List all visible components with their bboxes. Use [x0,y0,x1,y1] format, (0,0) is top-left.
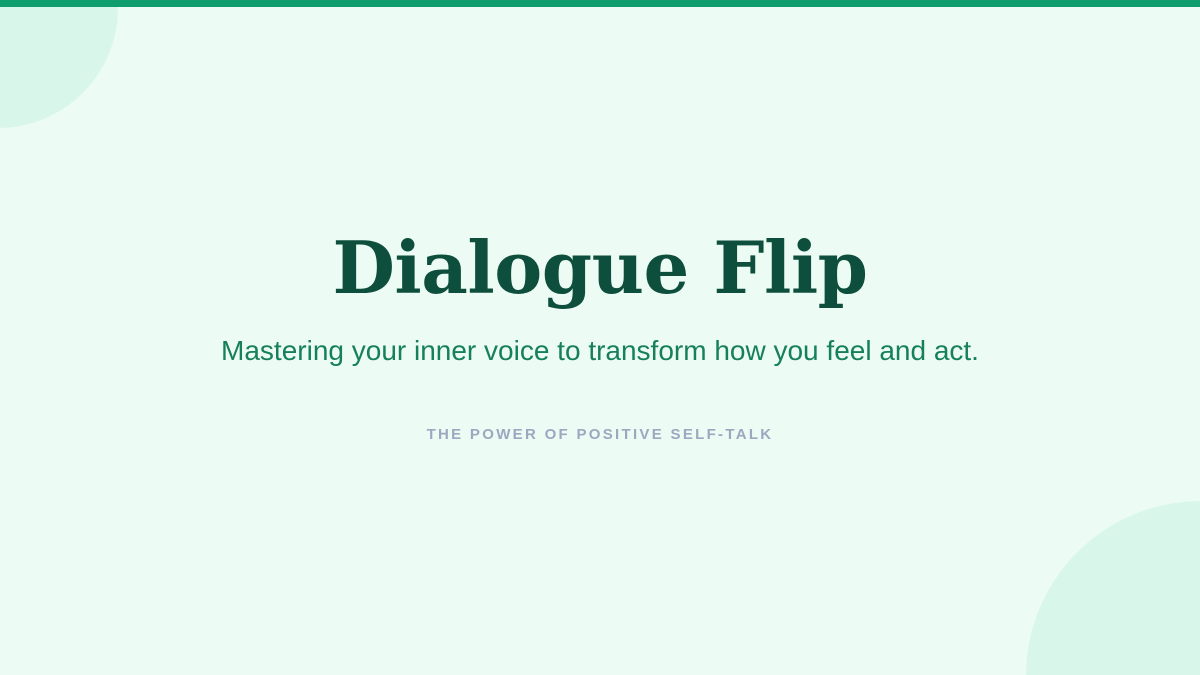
top-accent-bar [0,0,1200,7]
page-title: Dialogue Flip [332,230,867,306]
title-slide: Dialogue Flip Mastering your inner voice… [0,0,1200,675]
slide-content: Dialogue Flip Mastering your inner voice… [0,0,1200,675]
slide-eyebrow: THE POWER OF POSITIVE SELF-TALK [427,425,774,445]
slide-subtitle: Mastering your inner voice to transform … [221,332,979,370]
